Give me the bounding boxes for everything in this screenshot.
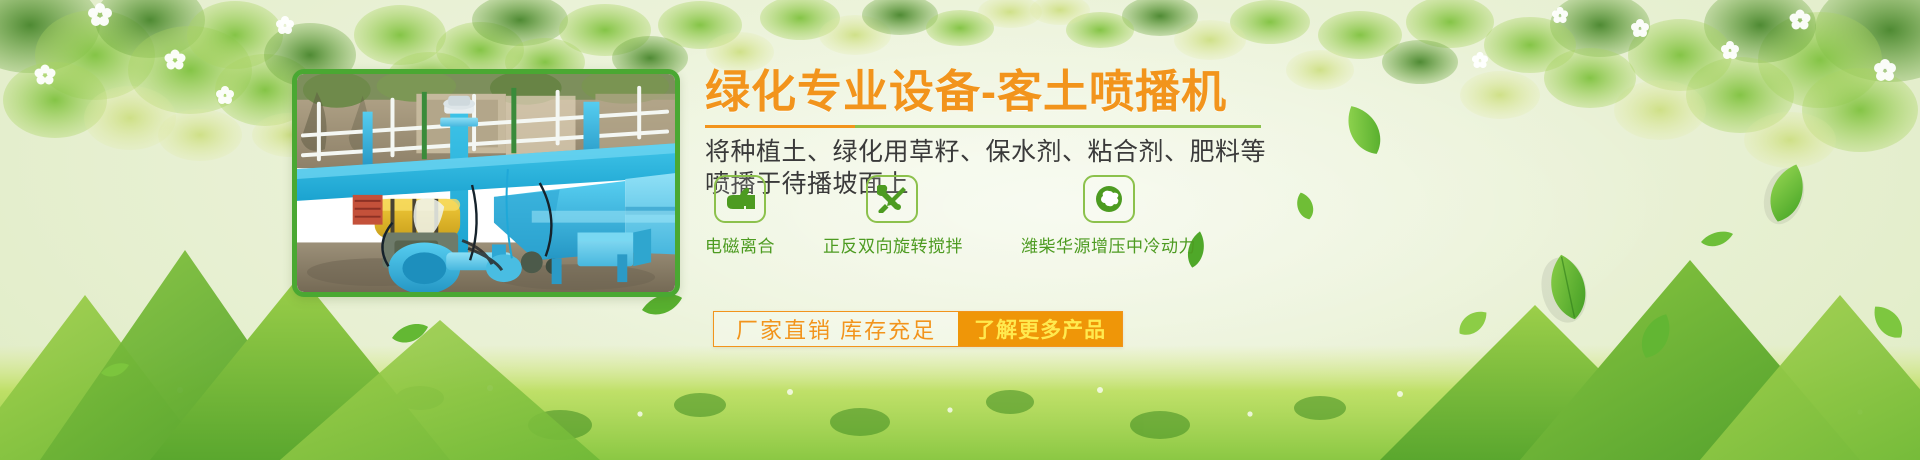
floating-leaf-icon xyxy=(1458,304,1488,342)
floating-leaf-icon xyxy=(390,320,430,348)
floating-leaf-icon xyxy=(100,360,130,380)
learn-more-button[interactable]: 了解更多产品 xyxy=(958,312,1122,346)
floating-leaf-icon xyxy=(1870,300,1906,344)
title-divider xyxy=(705,125,1261,128)
clutch-grip-icon xyxy=(725,186,755,212)
gear-engine-icon xyxy=(1094,184,1124,214)
floating-leaf-icon xyxy=(1700,228,1734,250)
feature-icon-box xyxy=(714,175,766,223)
hydroseeder-machine-illustration xyxy=(297,74,675,292)
feature-item-engine[interactable]: 潍柴华源增压中冷动力 xyxy=(1021,175,1196,257)
page-title: 绿化专业设备-客土喷播机 xyxy=(705,66,1405,118)
promo-banner: 绿化专业设备-客土喷播机 将种植土、绿化用草籽、保水剂、粘合剂、肥料等 喷播于待… xyxy=(0,0,1920,460)
floating-leaf-icon xyxy=(1760,160,1814,226)
floating-leaf-icon xyxy=(1635,310,1677,362)
feature-item-mixing[interactable]: 正反双向旋转搅拌 xyxy=(823,175,963,257)
feature-label: 正反双向旋转搅拌 xyxy=(823,232,963,257)
product-photo-frame[interactable] xyxy=(292,69,680,297)
feature-list: 电磁离合 正反双向旋转搅拌 潍柴华源增压中冷动力 xyxy=(705,175,1196,257)
tools-wrench-screwdriver-icon xyxy=(877,185,907,213)
subtitle-line-1: 将种植土、绿化用草籽、保水剂、粘合剂、肥料等 xyxy=(705,136,1405,168)
cta-slogan: 厂家直销 库存充足 xyxy=(714,312,958,346)
product-photo xyxy=(297,74,675,292)
feature-icon-box xyxy=(1083,175,1135,223)
floating-leaf-icon xyxy=(1538,250,1598,324)
cta-bar: 厂家直销 库存充足 了解更多产品 xyxy=(713,311,1123,347)
feature-item-clutch[interactable]: 电磁离合 xyxy=(705,175,775,257)
feature-label: 潍柴华源增压中冷动力 xyxy=(1021,232,1196,257)
feature-label: 电磁离合 xyxy=(705,232,775,257)
feature-icon-box xyxy=(866,175,918,223)
